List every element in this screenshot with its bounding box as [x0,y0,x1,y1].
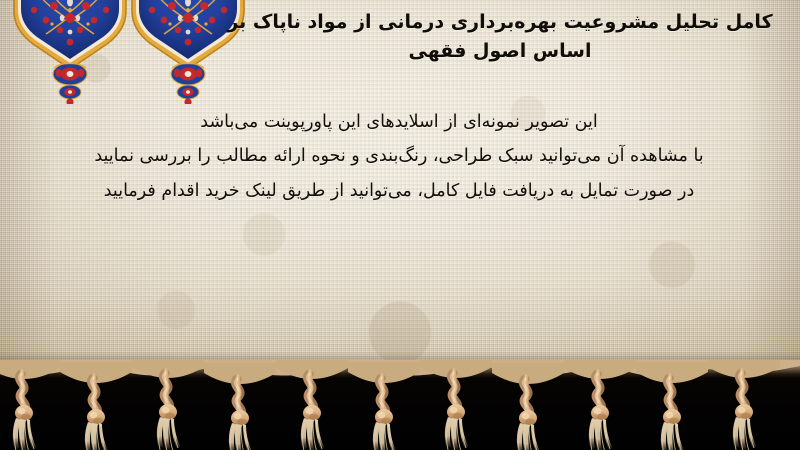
body-line-1: این تصویر نمونه‌ای از اسلایدهای این پاور… [12,108,786,136]
slide-body: این تصویر نمونه‌ای از اسلایدهای این پاور… [12,108,786,205]
title-line-2: اساس اصول فقهی [220,37,780,66]
presentation-slide: کامل تحلیل مشروعیت بهره‌برداری درمانی از… [0,0,800,450]
body-line-3: در صورت تمایل به دریافت فایل کامل، می‌تو… [12,177,786,205]
page-title: کامل تحلیل مشروعیت بهره‌برداری درمانی از… [220,8,780,67]
body-line-2: با مشاهده آن می‌توانید سبک طراحی، رنگ‌بن… [12,142,786,170]
title-line-1: کامل تحلیل مشروعیت بهره‌برداری درمانی از… [220,8,780,37]
slide-text-layer: کامل تحلیل مشروعیت بهره‌برداری درمانی از… [0,0,800,378]
fringe-tassel-shapes [0,360,800,450]
carpet-fringe-tassels-icon [0,360,800,450]
